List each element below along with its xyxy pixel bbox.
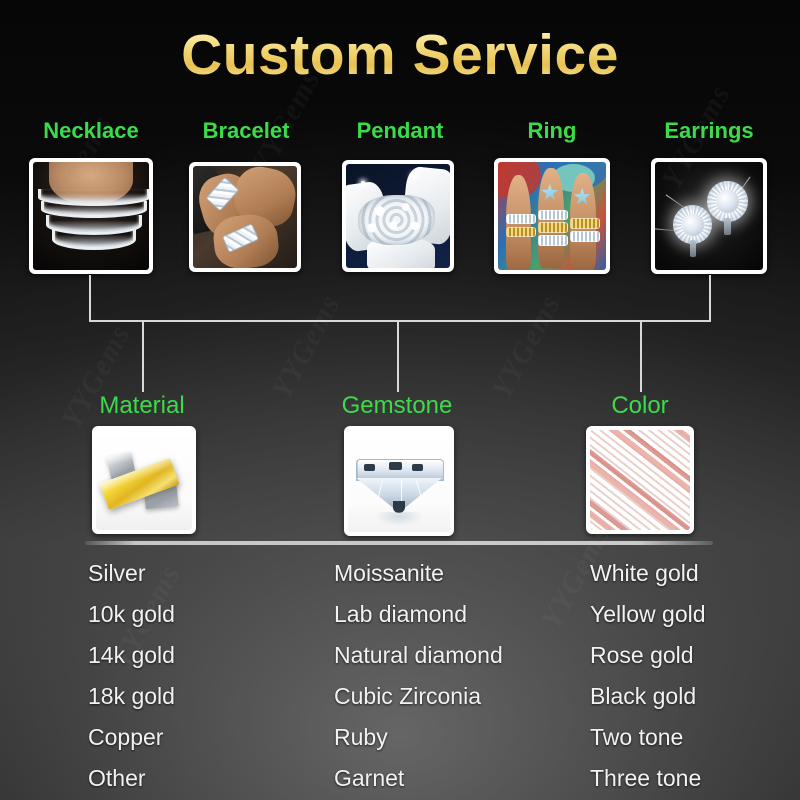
category-label-ring: Ring [528, 118, 577, 144]
option-item[interactable]: 18k gold [88, 676, 175, 717]
option-item[interactable]: White gold [590, 553, 706, 594]
necklace-photo[interactable] [29, 158, 153, 274]
necklace-image [33, 162, 149, 270]
earring-post [690, 240, 696, 257]
connector-line-gemstone-drop [397, 320, 399, 392]
option-item[interactable]: Moissanite [334, 553, 503, 594]
bracelet-image [193, 166, 297, 268]
diamond-stud-earring [673, 205, 712, 244]
option-item[interactable]: 14k gold [88, 635, 175, 676]
diamond-facet-dark [412, 464, 423, 471]
ring-image [498, 162, 606, 270]
option-item[interactable]: Ruby [334, 717, 503, 758]
iced-ring-band [538, 235, 568, 246]
earring-post [724, 218, 730, 235]
diamond-facet-dark [364, 464, 374, 471]
diamond-facet-dark [389, 462, 402, 470]
gemstone-photo[interactable] [344, 426, 454, 536]
earrings-photo[interactable] [651, 158, 767, 274]
group-label-color: Color [611, 392, 668, 420]
option-item[interactable]: Silver [88, 553, 175, 594]
option-item[interactable]: Black gold [590, 676, 706, 717]
group-label-material: Material [99, 392, 184, 420]
option-list-material: Silver 10k gold 14k gold 18k gold Copper… [88, 553, 175, 799]
category-label-bracelet: Bracelet [203, 118, 290, 144]
connector-line-horizontal-bus [89, 320, 711, 322]
gold-ring-band [570, 218, 600, 229]
iced-ring-band [570, 231, 600, 242]
color-photo[interactable] [586, 426, 694, 534]
sparkle-icon [412, 174, 416, 178]
gold-ring-band [538, 222, 568, 233]
connector-line-left-drop [89, 275, 91, 322]
diamond-stud-earring [707, 181, 748, 222]
option-item[interactable]: Rose gold [590, 635, 706, 676]
gold-ring-band [506, 227, 536, 238]
option-list-color: White gold Yellow gold Rose gold Black g… [590, 553, 706, 799]
option-item[interactable]: Cubic Zirconia [334, 676, 503, 717]
option-item[interactable]: Other [88, 758, 175, 799]
option-item[interactable]: Garnet [334, 758, 503, 799]
cuban-chain-strand [52, 229, 137, 250]
sparkle-icon [361, 181, 365, 185]
connector-line-color-drop [640, 320, 642, 392]
watermark-text: YYGems [265, 289, 348, 404]
earrings-image [655, 162, 763, 270]
category-label-earrings: Earrings [664, 118, 753, 144]
option-item[interactable]: Three tone [590, 758, 706, 799]
pendant-photo[interactable] [342, 160, 454, 272]
option-item[interactable]: Natural diamond [334, 635, 503, 676]
gold-and-silver-bars-image [96, 430, 192, 530]
option-list-gemstone: Moissanite Lab diamond Natural diamond C… [334, 553, 503, 799]
option-item[interactable]: Two tone [590, 717, 706, 758]
bar-highlight [107, 452, 133, 466]
category-label-pendant: Pendant [357, 118, 444, 144]
diamond-reflection [375, 512, 424, 526]
custom-service-infographic: YYGems YYGems YYGems YYGems YYGems YYGem… [0, 0, 800, 800]
connector-line-material-drop [142, 320, 144, 392]
iced-ring-band [538, 210, 568, 221]
diamond-image [348, 430, 450, 532]
connector-line-right-drop [709, 275, 711, 322]
material-photo[interactable] [92, 426, 196, 534]
ring-photo[interactable] [494, 158, 610, 274]
option-item[interactable]: Lab diamond [334, 594, 503, 635]
bracelet-photo[interactable] [189, 162, 301, 272]
section-divider [85, 541, 713, 545]
option-item[interactable]: Yellow gold [590, 594, 706, 635]
group-label-gemstone: Gemstone [342, 392, 453, 420]
iced-ring-band [506, 214, 536, 225]
option-item[interactable]: Copper [88, 717, 175, 758]
rose-gold-chain-image [590, 430, 690, 530]
iced-pendant-shape [358, 195, 435, 245]
category-label-necklace: Necklace [43, 118, 138, 144]
page-title: Custom Service [0, 22, 800, 88]
pendant-image [346, 164, 450, 268]
watermark-text: YYGems [485, 289, 568, 404]
option-item[interactable]: 10k gold [88, 594, 175, 635]
